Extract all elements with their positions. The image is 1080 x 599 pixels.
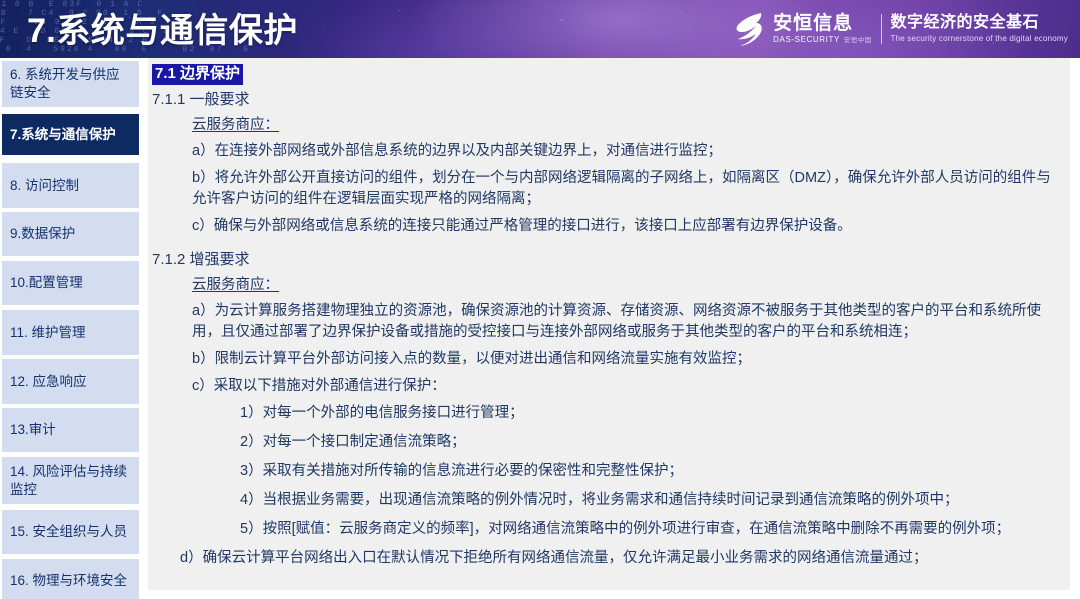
sidebar-item-label: 12. 应急响应	[10, 373, 87, 391]
brand-name-block: 安恒信息 DAS-SECURITY 安恒中国	[773, 14, 871, 45]
brand-cn-name: 安恒信息	[773, 14, 871, 34]
sidebar-item-1[interactable]: 6. 系统开发与供应链安全	[2, 61, 139, 107]
brand-tagline-block: 数字经济的安全基石 The security cornerstone of th…	[891, 14, 1069, 44]
brand-lockup: 安恒信息 DAS-SECURITY 安恒中国 数字经济的安全基石 The sec…	[734, 8, 1068, 50]
requirement-item: c）采取以下措施对外部通信进行保护：	[192, 374, 1060, 395]
sidebar-item-8[interactable]: 13.审计	[2, 408, 139, 452]
sidebar-item-label: 6. 系统开发与供应链安全	[10, 66, 131, 102]
sidebar-item-label: 9.数据保护	[10, 225, 75, 243]
sidebar-item-label: 11. 维护管理	[10, 324, 86, 342]
tagline-en: The security cornerstone of the digital …	[891, 34, 1069, 44]
sidebar-item-9[interactable]: 14. 风险评估与持续监控	[2, 457, 139, 504]
sidebar-item-label: 13.审计	[10, 421, 56, 439]
brand-divider	[881, 14, 882, 44]
requirement-item: a）在连接外部网络或外部信息系统的边界以及内部关键边界上，对通信进行监控；	[192, 139, 1060, 160]
lead-in-text: 云服务商应：	[192, 273, 1060, 294]
section-spacer	[152, 241, 1060, 248]
sidebar-item-11[interactable]: 16. 物理与环境安全	[2, 559, 139, 599]
content-panel: 7.1 边界保护 7.1.1 一般要求云服务商应：a）在连接外部网络或外部信息系…	[148, 58, 1070, 590]
page-title: 7.系统与通信保护	[27, 3, 298, 52]
subsection-heading: 7.1.2 增强要求	[152, 248, 1060, 269]
requirement-item: c）确保与外部网络或信息系统的连接只能通过严格管理的接口进行，该接口上应部署有边…	[192, 214, 1060, 235]
sidebar-item-6[interactable]: 11. 维护管理	[2, 310, 139, 355]
sidebar-item-7[interactable]: 12. 应急响应	[2, 359, 139, 404]
subsection-heading: 7.1.1 一般要求	[152, 88, 1060, 109]
requirement-item: b）将允许外部公开直接访问的组件，划分在一个与内部网络逻辑隔离的子网络上，如隔离…	[192, 166, 1060, 208]
brand-cn-sub: 安恒中国	[844, 36, 872, 45]
sidebar-nav: 6. 系统开发与供应链安全7.系统与通信保护8. 访问控制9.数据保护10.配置…	[0, 58, 141, 599]
sidebar-item-label: 8. 访问控制	[10, 177, 79, 195]
content-body: 7.1.1 一般要求云服务商应：a）在连接外部网络或外部信息系统的边界以及内部关…	[152, 88, 1060, 567]
sidebar-item-3[interactable]: 8. 访问控制	[2, 163, 139, 208]
requirement-item: d）确保云计算平台网络出入口在默认情况下拒绝所有网络通信流量，仅允许满足最小业务…	[180, 546, 1060, 567]
lead-in-text: 云服务商应：	[192, 113, 1060, 134]
requirement-subitem: 2）对每一个接口制定通信流策略；	[240, 430, 1060, 451]
requirement-item: b）限制云计算平台外部访问接入点的数量，以便对进出通信和网络流量实施有效监控；	[192, 347, 1060, 368]
sidebar-item-2[interactable]: 7.系统与通信保护	[2, 114, 139, 155]
section-heading: 7.1 边界保护	[152, 64, 243, 85]
requirement-subitem: 3）采取有关措施对所传输的信息流进行必要的保密性和完整性保护；	[240, 459, 1060, 480]
sidebar-item-label: 16. 物理与环境安全	[10, 572, 127, 590]
tagline-cn: 数字经济的安全基石	[891, 14, 1069, 32]
sidebar-item-label: 14. 风险评估与持续监控	[10, 463, 131, 499]
sidebar-item-label: 10.配置管理	[10, 274, 83, 292]
requirement-subitem: 5）按照[赋值：云服务商定义的频率]，对网络通信流策略中的例外项进行审查，在通信…	[240, 517, 1060, 538]
section-heading-wrap: 7.1 边界保护	[152, 64, 1060, 88]
sidebar-item-label: 7.系统与通信保护	[10, 126, 116, 144]
requirement-subitem: 1）对每一个外部的电信服务接口进行管理；	[240, 401, 1060, 422]
requirement-subitem: 4）当根据业务需要，出现通信流策略的例外情况时，将业务需求和通信持续时间记录到通…	[240, 488, 1060, 509]
sidebar-item-4[interactable]: 9.数据保护	[2, 212, 139, 256]
swoosh-logo-icon	[734, 11, 764, 47]
sidebar-item-10[interactable]: 15. 安全组织与人员	[2, 510, 139, 554]
slide-root: 1 0 B E 83F 0 1 A C B 7 C4 9 2 D0 1 B F …	[0, 0, 1080, 599]
brand-en-name: DAS-SECURITY	[773, 35, 840, 44]
requirement-item: a）为云计算服务搭建物理独立的资源池，确保资源池的计算资源、存储资源、网络资源不…	[192, 299, 1060, 341]
slide-header: 1 0 B E 83F 0 1 A C B 7 C4 9 2 D0 1 B F …	[0, 0, 1080, 58]
sidebar-item-label: 15. 安全组织与人员	[10, 523, 127, 541]
sidebar-item-5[interactable]: 10.配置管理	[2, 261, 139, 305]
